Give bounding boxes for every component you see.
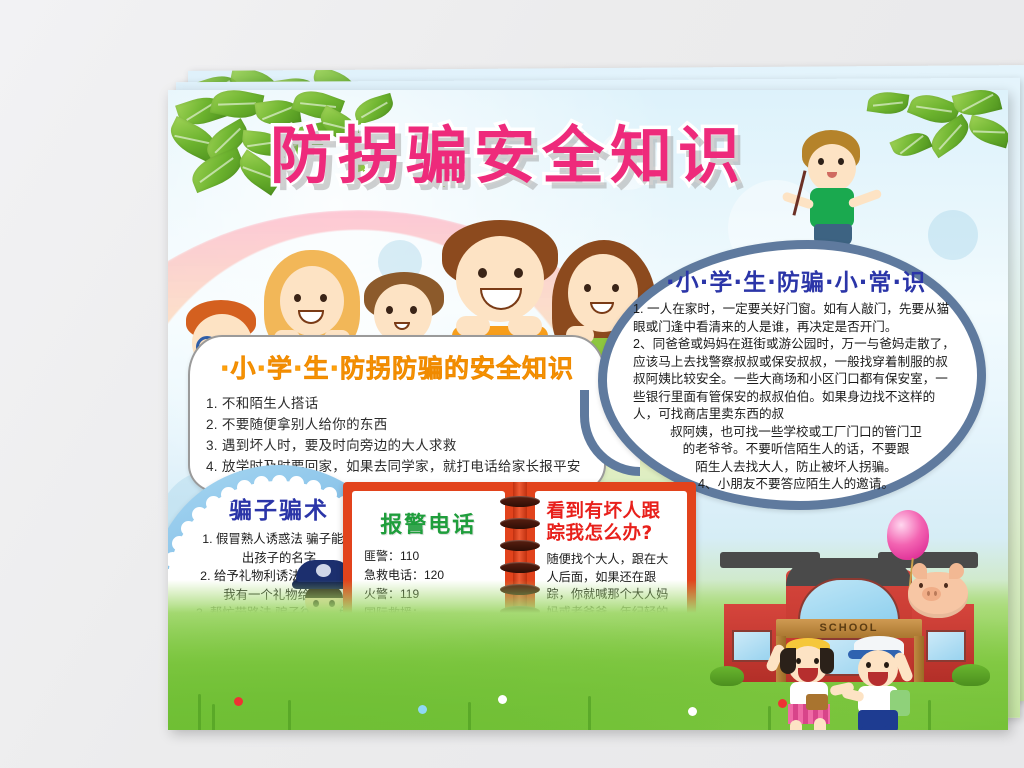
window xyxy=(926,630,966,662)
arm xyxy=(456,316,490,336)
scallop-dot xyxy=(272,475,287,490)
notebook-ring xyxy=(500,518,540,529)
eye xyxy=(818,158,824,165)
eye xyxy=(410,306,417,314)
poster-canvas: 防拐骗安全知识 xyxy=(168,90,1008,730)
ear xyxy=(949,563,964,579)
screenshot-root: 防拐骗安全知识 xyxy=(0,0,1024,768)
notebook-ring xyxy=(500,496,540,507)
list-item: 2. 不要随便拿别人给你的东西 xyxy=(206,414,588,435)
police-badge-icon xyxy=(316,564,331,577)
eye xyxy=(796,658,801,664)
eye xyxy=(919,583,923,588)
scallop-dot xyxy=(306,480,321,495)
scallop-dot xyxy=(181,521,196,536)
eye xyxy=(294,294,301,302)
followed-question-heading: 看到有坏人跟踪我怎么办? xyxy=(547,501,676,545)
leaf-icon xyxy=(966,115,1008,149)
list-item: 3. 遇到坏人时，要及时向旁边的大人求救 xyxy=(206,435,588,456)
bokeh-circle xyxy=(928,210,978,260)
scallop-dot xyxy=(254,476,269,491)
eye xyxy=(478,268,487,278)
bush xyxy=(710,666,744,686)
emergency-entry: 匪警：110 xyxy=(364,547,493,566)
bubble-paragraph: 叔阿姨，也可找一些学校或工厂门口的管门卫 xyxy=(633,424,959,442)
eye xyxy=(584,284,591,292)
eye xyxy=(866,662,871,668)
nostril xyxy=(934,591,937,596)
scallop-dot xyxy=(206,496,221,511)
anti-fraud-tips-bubble: ·小·学·生·防骗·小·常·识 1. 一人在家时，一定要关好门窗。如有人敲门，先… xyxy=(598,240,986,510)
bubble-heading: ·小·学·生·防骗·小·常·识 xyxy=(633,263,959,297)
face xyxy=(808,144,856,192)
stick xyxy=(792,170,806,215)
scallop-dot xyxy=(237,480,252,495)
notebook-ring xyxy=(500,562,540,573)
eye xyxy=(514,268,523,278)
bubble-paragraph: 2、同爸爸或妈妈在逛街或游公园时，万一与爸妈走散了，应该马上去找警察叔叔或保安叔… xyxy=(633,336,959,424)
notebook-ring xyxy=(500,540,540,551)
scallop-dot xyxy=(172,536,187,551)
panel-left-list: 1. 不和陌生人搭话 2. 不要随便拿别人给你的东西 3. 遇到坏人时，要及时向… xyxy=(206,393,588,477)
face xyxy=(280,266,344,336)
balloon-icon xyxy=(887,510,929,560)
bubble-paragraph: 的老爷爷。不要听信陌生人的话，不要跟 xyxy=(633,441,959,459)
leaf-icon xyxy=(867,90,910,117)
ear xyxy=(912,563,927,579)
running-boy-illustration xyxy=(846,636,924,730)
nostril xyxy=(927,591,930,596)
bubble-paragraph: 1. 一人在家时，一定要关好门窗。如有人敲门，先要从猫眼或门逢中看清来的人是谁，… xyxy=(633,301,959,336)
eye xyxy=(320,294,327,302)
leg xyxy=(790,720,802,730)
eye xyxy=(612,284,619,292)
scallop-dot xyxy=(322,487,337,502)
eye xyxy=(884,662,889,668)
leg xyxy=(814,718,826,730)
shirt xyxy=(810,188,854,228)
shoulder-bag xyxy=(806,694,828,710)
eye xyxy=(814,658,819,664)
eye xyxy=(838,158,844,165)
snout xyxy=(922,587,941,601)
emergency-numbers-heading: 报警电话 xyxy=(364,507,493,539)
leg xyxy=(884,724,897,730)
panel-left-heading: ·小·学·生·防拐防骗的安全知识 xyxy=(206,349,588,385)
hair xyxy=(820,648,834,674)
eye xyxy=(386,306,393,314)
scallop-dot xyxy=(289,476,304,491)
bubble-paragraph: 陌生人去找大人，防止被坏人拐骗。 xyxy=(633,459,959,477)
jumping-boy-illustration xyxy=(788,130,898,240)
scallop-dot xyxy=(221,487,236,502)
list-item: 1. 不和陌生人搭话 xyxy=(206,393,588,414)
running-girl-illustration xyxy=(776,638,850,730)
hair xyxy=(780,648,796,674)
pig-illustration xyxy=(908,572,968,618)
bush xyxy=(952,664,990,686)
eye xyxy=(944,583,948,588)
window xyxy=(732,630,772,662)
page-title: 防拐骗安全知识 xyxy=(228,125,788,187)
arm xyxy=(508,316,542,336)
